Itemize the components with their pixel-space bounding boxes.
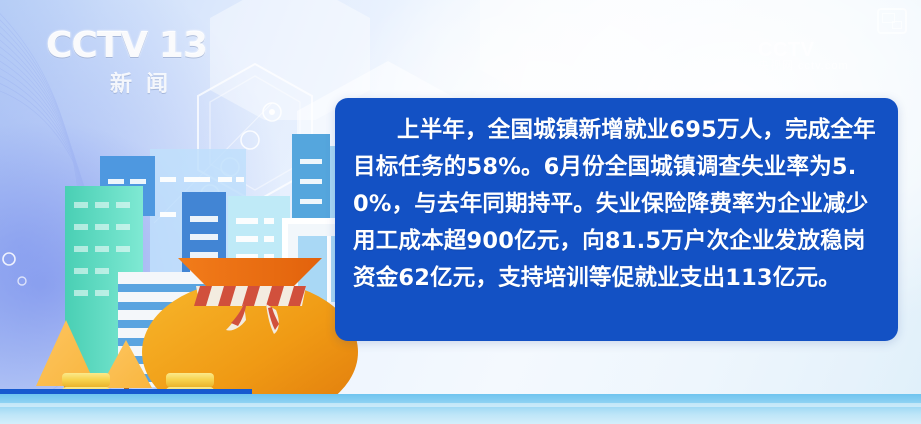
- cctv-watermark-brand: CCTV: [758, 40, 849, 61]
- cctv-watermark: CCTV 央视网 cctv.com: [758, 40, 849, 73]
- water-sheen: [0, 403, 921, 407]
- layout-frame-icon: [877, 8, 907, 34]
- news-text-panel: 上半年，全国城镇新增就业695万人，完成全年目标任务的58%。6月份全国城镇调查…: [335, 98, 898, 341]
- water-reflection-band: [0, 394, 921, 424]
- hexagon-fill-right: [470, 0, 660, 110]
- news-panel-text: 上半年，全国城镇新增就业695万人，完成全年目标任务的58%。6月份全国城镇调查…: [335, 98, 898, 297]
- news-screenshot: CCTV 13 新闻 CCTV 央视网 cctv.com 上半年，全国城镇新增就…: [0, 0, 921, 424]
- cctv-watermark-sub: 央视网 cctv.com: [758, 61, 849, 73]
- cctv13-logo: CCTV 13 新闻: [46, 28, 236, 98]
- cctv13-logo-sub: 新闻: [46, 66, 236, 98]
- cctv13-logo-text: CCTV 13: [46, 28, 236, 64]
